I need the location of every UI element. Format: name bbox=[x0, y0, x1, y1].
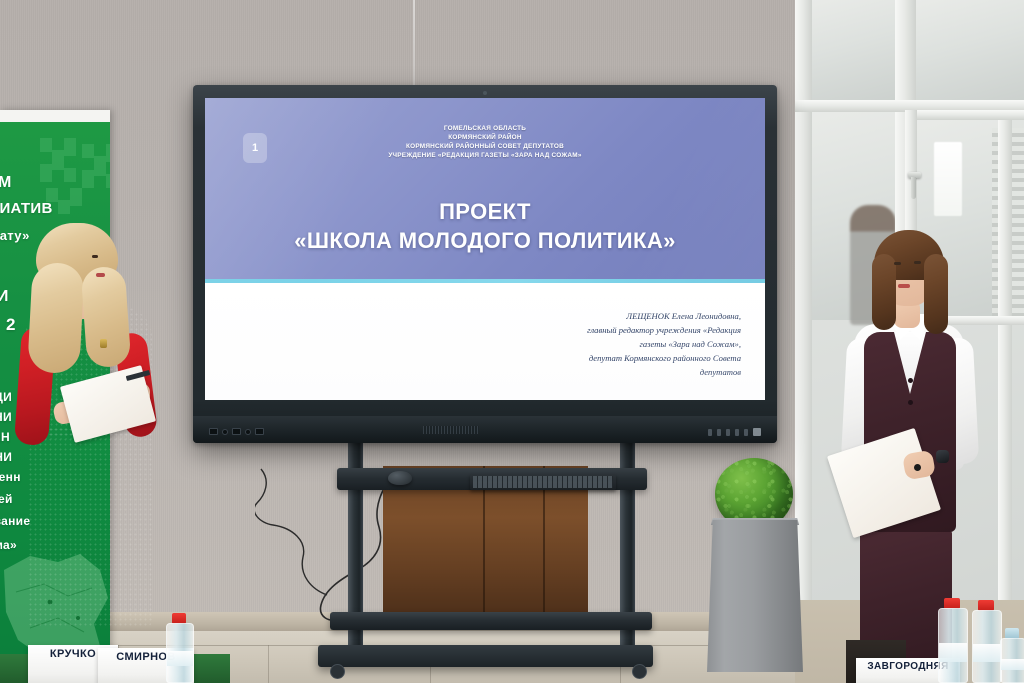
door-frame-right bbox=[998, 104, 1012, 600]
glass-pane-upper-left bbox=[811, 0, 895, 100]
placard-name: КРУЧКО bbox=[50, 648, 96, 660]
lan-port[interactable] bbox=[255, 428, 264, 435]
slide-title-line1: ПРОЕКТ bbox=[205, 198, 765, 227]
cart-base bbox=[318, 645, 653, 667]
display-control-buttons[interactable] bbox=[708, 428, 761, 436]
cart-caster bbox=[632, 664, 647, 679]
slide-header-line: ГОМЕЛЬСКАЯ ОБЛАСТЬ bbox=[205, 124, 765, 133]
planter bbox=[707, 520, 803, 672]
presenter-left-hair-curls bbox=[27, 262, 85, 375]
slide-author-line: ЛЕЩЕНОК Елена Леонидовна, bbox=[509, 310, 741, 324]
bottle-body bbox=[1000, 638, 1024, 683]
display-ports[interactable] bbox=[209, 428, 264, 435]
vest-button bbox=[908, 378, 913, 383]
slide-author-line: газеты «Зара над Сожам», bbox=[509, 338, 741, 352]
slide-header-block: ГОМЕЛЬСКАЯ ОБЛАСТЬ КОРМЯНСКИЙ РАЙОН КОРМ… bbox=[205, 124, 765, 160]
presenter-right-eye bbox=[894, 262, 901, 265]
speaker-grille bbox=[423, 426, 479, 434]
water-bottle bbox=[938, 598, 966, 683]
usb-port[interactable] bbox=[209, 428, 218, 435]
display-screen[interactable]: 1 ГОМЕЛЬСКАЯ ОБЛАСТЬ КОРМЯНСКИЙ РАЙОН КО… bbox=[205, 98, 765, 400]
display-bottom-bezel bbox=[193, 416, 777, 443]
volume-down-button[interactable] bbox=[708, 429, 712, 436]
slide-header-line: КОРМЯНСКИЙ РАЙОН bbox=[205, 133, 765, 142]
slide-author-line: депутат Кормянского районного Совета bbox=[509, 352, 741, 366]
bottle-body bbox=[938, 608, 968, 683]
presenter-right-lips bbox=[898, 284, 910, 288]
presenter-left-brooch bbox=[100, 339, 107, 348]
vest-button bbox=[908, 400, 913, 405]
presenter-right-watch bbox=[936, 450, 949, 463]
slide-title-block: ПРОЕКТ «ШКОЛА МОЛОДОГО ПОЛИТИКА» bbox=[205, 198, 765, 255]
presenter-right-eye bbox=[914, 261, 921, 264]
aux-port[interactable] bbox=[245, 429, 251, 435]
computer-mouse[interactable] bbox=[388, 471, 412, 485]
bottle-label bbox=[1001, 659, 1024, 670]
display-camera-icon bbox=[483, 91, 487, 95]
interactive-display[interactable]: 1 ГОМЕЛЬСКАЯ ОБЛАСТЬ КОРМЯНСКИЙ РАЙОН КО… bbox=[193, 85, 777, 443]
bottle-label bbox=[939, 643, 967, 662]
slide-header-line: УЧРЕЖДЕНИЕ «РЕДАКЦИЯ ГАЗЕТЫ «ЗАРА НАД СО… bbox=[205, 151, 765, 160]
bottle-body bbox=[972, 610, 1002, 683]
home-button[interactable] bbox=[744, 429, 748, 436]
presentation-room-photo: М НИЦИАТИВ ультату» ТАЦИ 2 ЦИ НИ НН ЕНИ … bbox=[0, 0, 1024, 683]
presenter-left bbox=[8, 215, 188, 683]
slide-title-line2: «ШКОЛА МОЛОДОГО ПОЛИТИКА» bbox=[205, 227, 765, 256]
presenter-right-ring bbox=[914, 464, 921, 471]
floor-grout-line bbox=[268, 645, 269, 683]
presenter-left-lips bbox=[96, 273, 105, 277]
door-handle-stem[interactable] bbox=[911, 177, 916, 199]
presenter-left-skirt bbox=[28, 427, 152, 627]
presenter-right-hair-side bbox=[924, 254, 948, 334]
computer-keyboard[interactable] bbox=[470, 474, 616, 490]
bottle-body bbox=[166, 623, 194, 683]
presenter-left-eye bbox=[92, 255, 98, 258]
door-glass-highlight bbox=[934, 142, 962, 216]
presentation-slide: 1 ГОМЕЛЬСКАЯ ОБЛАСТЬ КОРМЯНСКИЙ РАЙОН КО… bbox=[205, 98, 765, 400]
menu-button[interactable] bbox=[726, 429, 730, 436]
slide-header-line: КОРМЯНСКИЙ РАЙОННЫЙ СОВЕТ ДЕПУТАТОВ bbox=[205, 142, 765, 151]
bottle-label bbox=[167, 651, 193, 666]
door-top-rail bbox=[905, 110, 1024, 120]
placard-name: ЗАВГОРОДНЯЯ bbox=[867, 661, 948, 672]
glass-pane-upper-right bbox=[915, 0, 1024, 100]
power-button[interactable] bbox=[753, 428, 761, 436]
keyboard-keys bbox=[473, 476, 613, 488]
cart-lower-shelf bbox=[330, 612, 652, 630]
banner-white-strip bbox=[0, 110, 110, 122]
bottle-label bbox=[973, 644, 1001, 662]
presenter-right bbox=[832, 228, 992, 683]
banner-text-fragment: М bbox=[0, 174, 12, 192]
presenter-left-hair-curls bbox=[81, 266, 132, 369]
source-button[interactable] bbox=[735, 429, 739, 436]
water-bottle bbox=[1000, 628, 1024, 683]
slide-author-line: главный редактор учреждения «Редакция bbox=[509, 324, 741, 338]
cart-caster bbox=[330, 664, 345, 679]
slide-author-block: ЛЕЩЕНОК Елена Леонидовна, главный редакт… bbox=[509, 310, 741, 380]
volume-up-button[interactable] bbox=[717, 429, 721, 436]
water-bottle bbox=[972, 600, 1000, 683]
water-bottle bbox=[166, 613, 192, 683]
door-frame-left bbox=[795, 0, 812, 600]
presenter-right-hair-side bbox=[872, 254, 896, 330]
slide-author-line: депутатов bbox=[509, 366, 741, 380]
audio-port[interactable] bbox=[222, 429, 228, 435]
hdmi-port[interactable] bbox=[232, 428, 241, 435]
